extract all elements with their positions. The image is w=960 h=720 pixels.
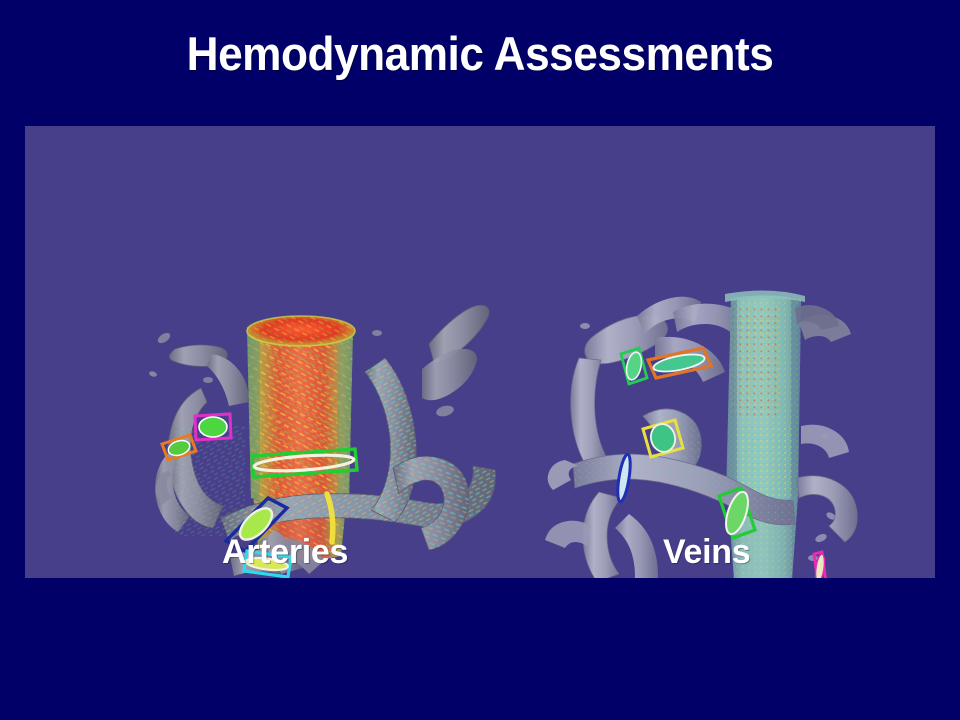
page-title: Hemodynamic Assessments bbox=[29, 26, 931, 82]
vein-branch-lower-left bbox=[545, 492, 658, 578]
vein-branch-right bbox=[795, 305, 857, 542]
figure-panel bbox=[25, 126, 935, 578]
vascular-figure-svg bbox=[25, 126, 935, 578]
slide-root: Hemodynamic Assessments bbox=[0, 0, 960, 720]
artery-branch-right-posterior bbox=[422, 305, 489, 400]
panel-caption-arteries: Arteries bbox=[222, 533, 348, 571]
artery-branch-left-upper bbox=[169, 345, 249, 406]
plane-green-upper[interactable] bbox=[621, 348, 647, 384]
panel-caption-veins: Veins bbox=[663, 533, 750, 571]
